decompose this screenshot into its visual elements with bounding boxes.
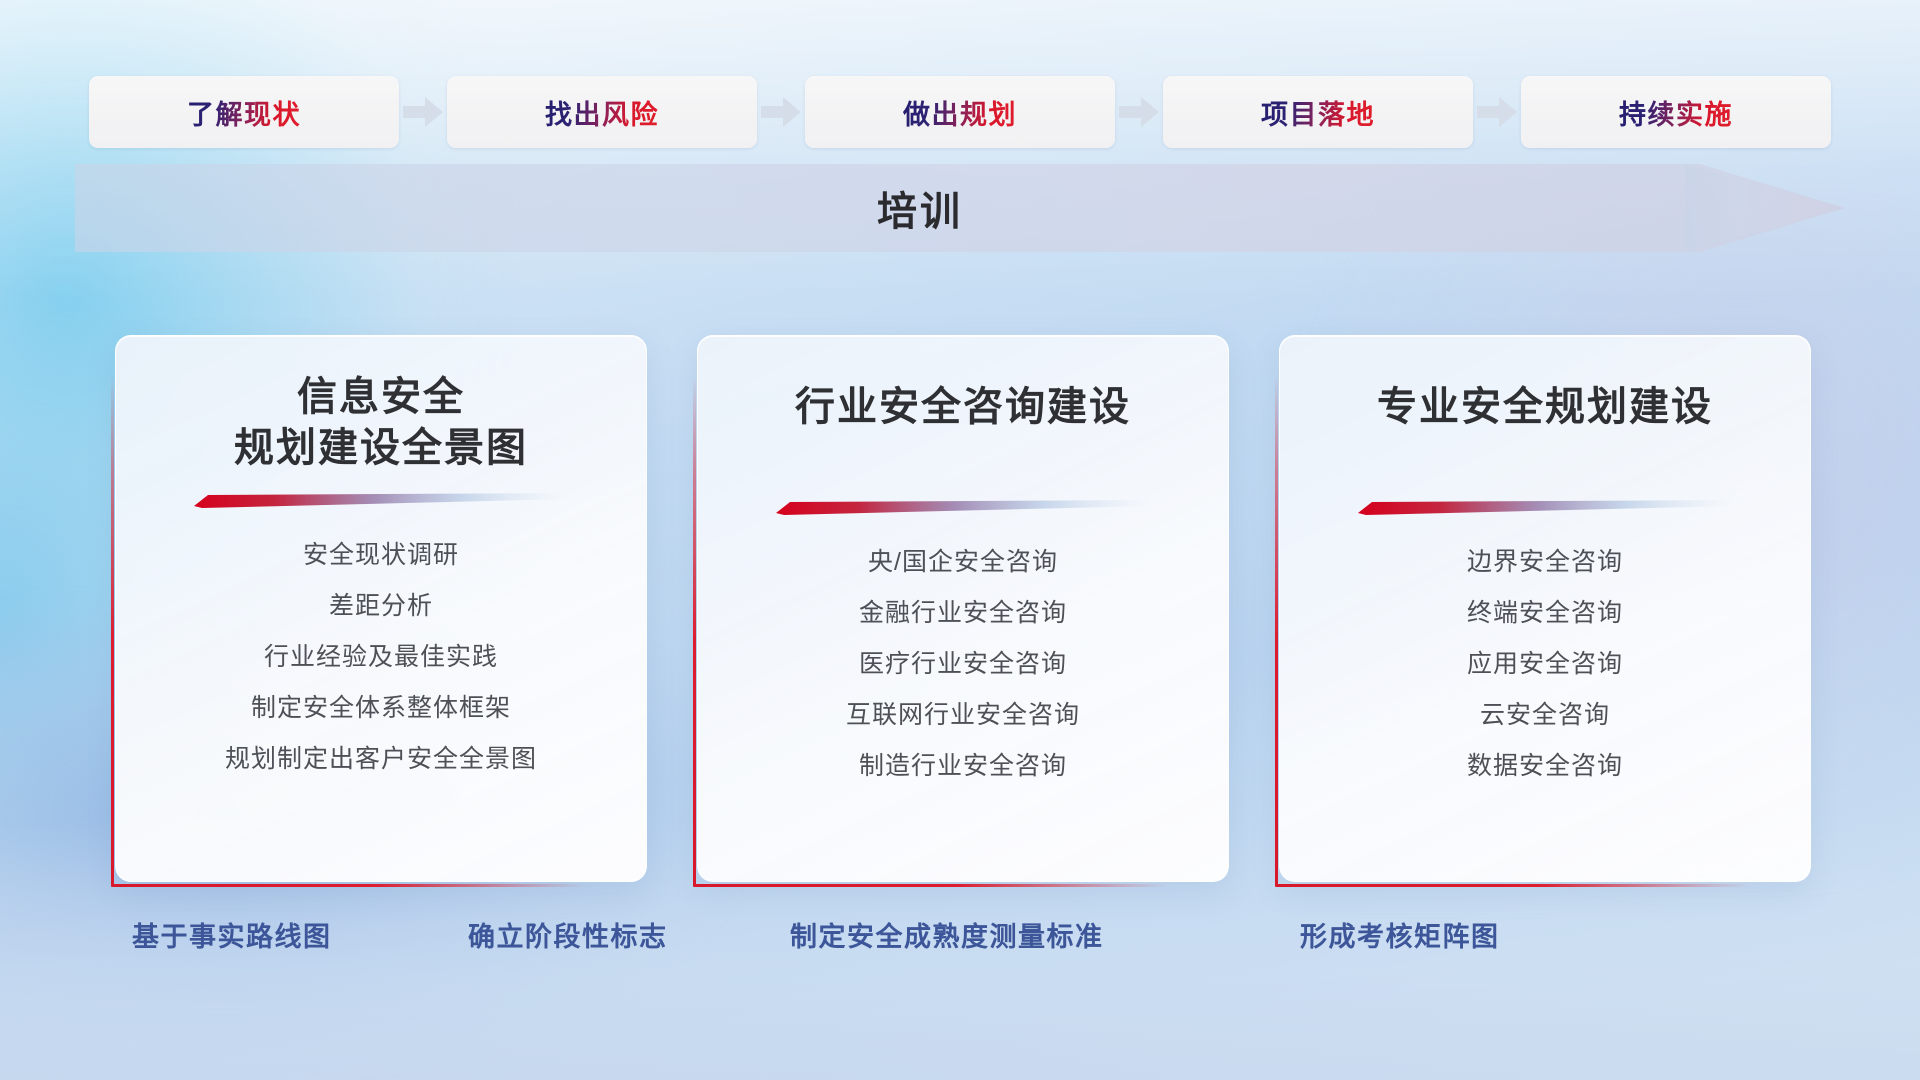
card-3-red-bottom-accent (1275, 884, 1750, 887)
process-step-5[interactable]: 持续实施 (1521, 76, 1831, 148)
process-step-bar: 了解现状 找出风险 做出规划 项目落地 持续实施 (0, 76, 1920, 148)
card-3-item-2: 终端安全咨询 (1467, 588, 1623, 639)
card-3-item-3: 应用安全咨询 (1467, 639, 1623, 690)
training-banner-label-wrap: 培训 (75, 164, 1765, 252)
training-banner: 培训 (75, 164, 1845, 252)
card-1-title-line-2: 规划建设全景图 (234, 423, 528, 474)
process-step-2[interactable]: 找出风险 (447, 76, 757, 148)
card-1-item-3: 行业经验及最佳实践 (264, 632, 498, 683)
card-1-title: 信息安全 规划建设全景图 (234, 372, 528, 474)
process-step-1-label: 了解现状 (187, 93, 301, 132)
card-2-item-4: 互联网行业安全咨询 (846, 690, 1080, 741)
training-banner-label: 培训 (877, 179, 963, 237)
footnote-2: 确立阶段性标志 (468, 915, 668, 954)
footnote-4: 形成考核矩阵图 (1300, 915, 1500, 954)
process-arrow-icon-2 (757, 76, 805, 148)
card-3-item-4: 云安全咨询 (1480, 690, 1610, 741)
card-2-item-5: 制造行业安全咨询 (859, 741, 1067, 792)
footnote-1: 基于事实路线图 (132, 915, 332, 954)
card-1-divider (194, 492, 568, 508)
process-step-2-label: 找出风险 (545, 93, 659, 132)
card-1-item-5: 规划制定出客户安全全景图 (225, 734, 537, 785)
card-1-red-bottom-accent (111, 884, 586, 887)
card-1-red-left-accent (111, 376, 114, 887)
card-2-red-left-accent (693, 376, 696, 887)
card-3-item-5: 数据安全咨询 (1467, 741, 1623, 792)
card-2-divider (776, 499, 1150, 515)
process-arrow-icon-4 (1473, 76, 1521, 148)
card-3-title: 专业安全规划建设 (1377, 382, 1713, 433)
card-2-title-line-1: 行业安全咨询建设 (795, 382, 1131, 433)
card-industry-security-consulting[interactable]: 行业安全咨询建设 (697, 335, 1229, 882)
background-top-highlight (0, 0, 1920, 300)
card-3-item-1: 边界安全咨询 (1467, 537, 1623, 588)
slide-canvas: 了解现状 找出风险 做出规划 项目落地 持续实施 (0, 0, 1920, 1080)
card-info-security-panorama[interactable]: 信息安全 规划建设全景图 (115, 335, 647, 882)
process-step-3[interactable]: 做出规划 (805, 76, 1115, 148)
process-step-3-label: 做出规划 (903, 93, 1017, 132)
footnote-3: 制定安全成熟度测量标准 (790, 915, 1104, 954)
card-professional-security-planning[interactable]: 专业安全规划建设 (1279, 335, 1811, 882)
card-1-item-4: 制定安全体系整体框架 (251, 683, 511, 734)
process-arrow-icon-3 (1115, 76, 1163, 148)
process-step-4-label: 项目落地 (1261, 93, 1375, 132)
card-1-item-1: 安全现状调研 (303, 530, 459, 581)
card-3-divider (1358, 499, 1732, 515)
process-arrow-icon-1 (399, 76, 447, 148)
card-2-item-3: 医疗行业安全咨询 (859, 639, 1067, 690)
card-1-item-2: 差距分析 (329, 581, 433, 632)
card-3-red-left-accent (1275, 376, 1278, 887)
card-2-red-bottom-accent (693, 884, 1168, 887)
card-row: 信息安全 规划建设全景图 (0, 335, 1920, 880)
card-2-item-1: 央/国企安全咨询 (868, 537, 1058, 588)
process-step-4[interactable]: 项目落地 (1163, 76, 1473, 148)
card-3-title-line-1: 专业安全规划建设 (1377, 382, 1713, 433)
card-1-item-list: 安全现状调研 差距分析 行业经验及最佳实践 制定安全体系整体框架 规划制定出客户… (225, 530, 537, 785)
process-step-1[interactable]: 了解现状 (89, 76, 399, 148)
footnote-row: 基于事实路线图 确立阶段性标志 制定安全成熟度测量标准 形成考核矩阵图 (0, 915, 1920, 963)
card-1-title-line-1: 信息安全 (234, 372, 528, 423)
card-2-item-2: 金融行业安全咨询 (859, 588, 1067, 639)
card-3-item-list: 边界安全咨询 终端安全咨询 应用安全咨询 云安全咨询 数据安全咨询 (1467, 537, 1623, 792)
process-step-5-label: 持续实施 (1619, 93, 1733, 132)
card-2-item-list: 央/国企安全咨询 金融行业安全咨询 医疗行业安全咨询 互联网行业安全咨询 制造行… (846, 537, 1080, 792)
card-2-title: 行业安全咨询建设 (795, 382, 1131, 433)
